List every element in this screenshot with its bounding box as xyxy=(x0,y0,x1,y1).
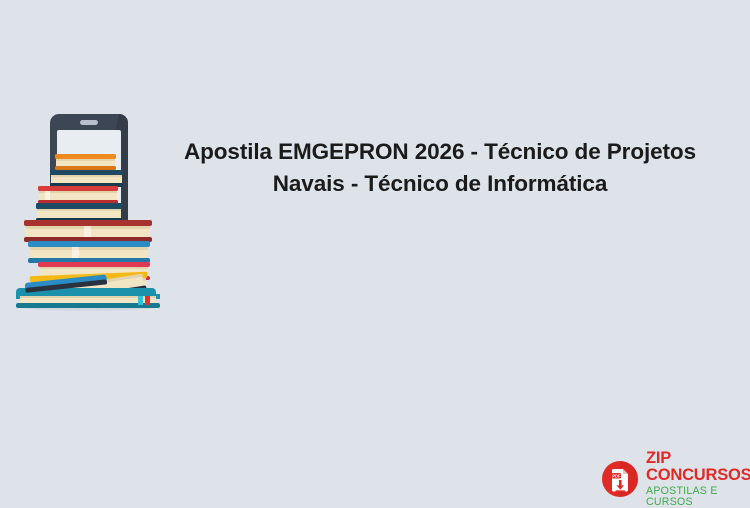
brand-text: ZIP CONCURSOS APOSTILAS E CURSOS xyxy=(646,450,750,507)
pdf-download-circle-icon: PDF xyxy=(601,460,639,498)
book-orange xyxy=(55,154,116,170)
book-dark-navy xyxy=(36,203,122,222)
bookmark-teal xyxy=(138,296,143,305)
bookmark-red xyxy=(145,296,150,305)
book-blue xyxy=(28,241,150,263)
product-banner: Apostila EMGEPRON 2026 - Técnico de Proj… xyxy=(0,0,750,500)
stack-of-books-with-tablet-illustration xyxy=(12,112,164,312)
brand-tagline: APOSTILAS E CURSOS xyxy=(646,486,750,507)
book-navy xyxy=(50,170,123,187)
title-block: Apostila EMGEPRON 2026 - Técnico de Proj… xyxy=(168,136,712,200)
book-dark-red xyxy=(24,220,152,242)
book-red xyxy=(38,186,118,204)
brand-name: ZIP CONCURSOS xyxy=(646,450,750,483)
brand-logo[interactable]: PDF ZIP CONCURSOS APOSTILAS E CURSOS xyxy=(601,450,750,507)
page-title: Apostila EMGEPRON 2026 - Técnico de Proj… xyxy=(168,136,712,200)
svg-text:PDF: PDF xyxy=(612,473,621,478)
